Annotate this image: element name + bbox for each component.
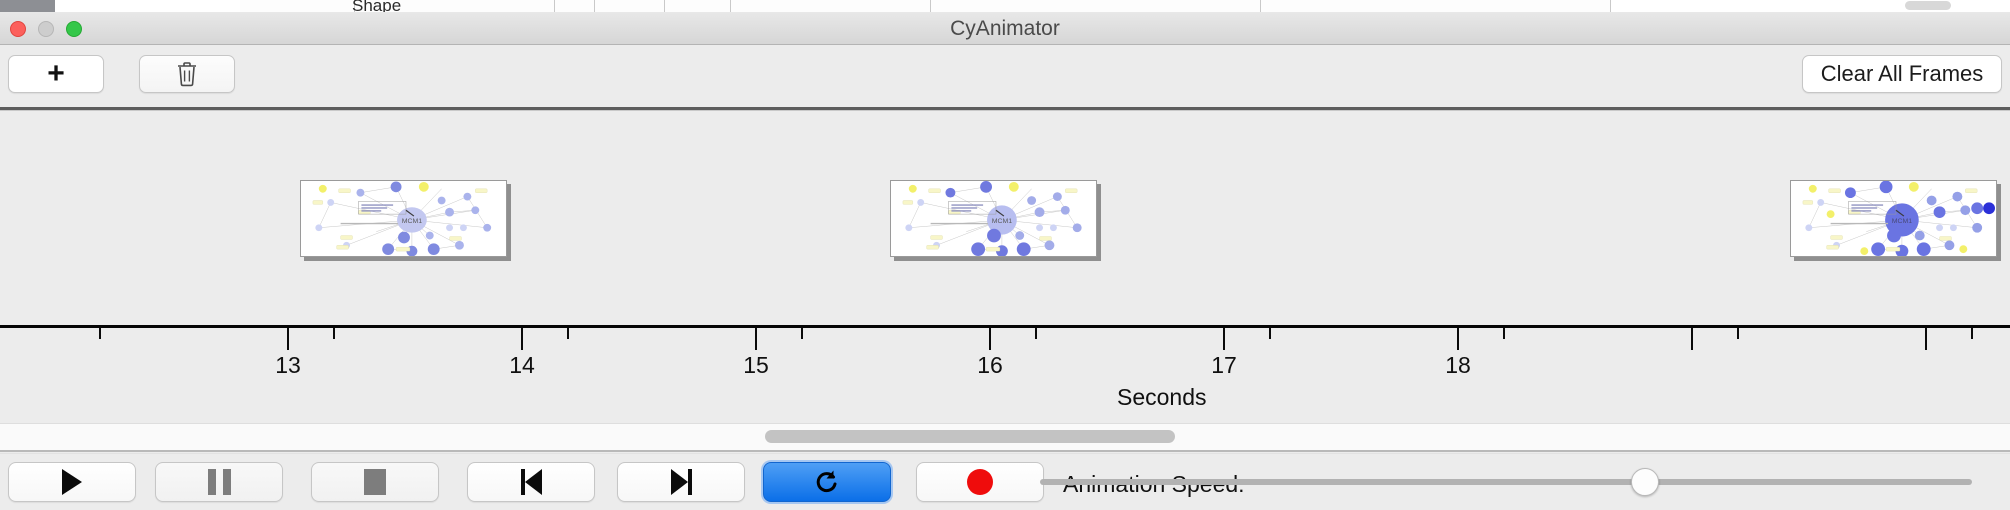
stop-icon xyxy=(364,469,386,495)
clear-all-frames-label: Clear All Frames xyxy=(1821,61,1984,87)
axis-tick-label: 14 xyxy=(492,352,552,379)
record-icon xyxy=(967,469,993,495)
axis-minor-tick xyxy=(801,328,803,339)
network-graphic: MCM1 xyxy=(301,181,506,256)
axis-major-tick xyxy=(755,328,757,350)
axis-major-tick xyxy=(287,328,289,350)
axis-minor-tick xyxy=(567,328,569,339)
network-graphic: MCM1 xyxy=(891,181,1096,256)
axis-minor-tick xyxy=(1503,328,1505,339)
background-scrollbar xyxy=(1905,1,1951,10)
scrollbar-bottom-border xyxy=(0,450,2010,452)
trash-icon xyxy=(176,61,198,87)
frame-thumbnail: MCM1 xyxy=(1790,180,1997,257)
axis-tick-label: 13 xyxy=(258,352,318,379)
axis-major-tick xyxy=(1223,328,1225,350)
svg-text:MCM1: MCM1 xyxy=(992,218,1013,225)
record-button[interactable] xyxy=(916,462,1044,502)
timeline-frame-3[interactable]: MCM1 xyxy=(1790,180,2001,261)
skip-back-icon xyxy=(521,469,542,495)
loop-button[interactable] xyxy=(763,462,891,502)
axis-minor-tick xyxy=(333,328,335,339)
timeline-frame-2[interactable]: MCM1 xyxy=(890,180,1101,261)
svg-text:MCM1: MCM1 xyxy=(402,218,423,225)
axis-minor-tick xyxy=(1737,328,1739,339)
plus-icon: + xyxy=(47,59,65,89)
axis-title: Seconds xyxy=(1117,384,1207,411)
scrollbar-thumb[interactable] xyxy=(765,430,1175,443)
skip-back-button[interactable] xyxy=(467,462,595,502)
delete-frame-button[interactable] xyxy=(139,55,235,93)
axis-minor-tick xyxy=(1269,328,1271,339)
axis-tick-label: 12 xyxy=(0,352,13,379)
timeline-frame-1[interactable]: MCM1 xyxy=(300,180,511,261)
skip-forward-button[interactable] xyxy=(617,462,745,502)
pause-icon xyxy=(208,469,231,495)
axis-tick-label: 17 xyxy=(1194,352,1254,379)
play-button[interactable] xyxy=(8,462,136,502)
axis-major-tick xyxy=(1925,328,1927,350)
window-title: CyAnimator xyxy=(0,12,2010,45)
axis-minor-tick xyxy=(99,328,101,339)
stop-button[interactable] xyxy=(311,462,439,502)
background-dark-block xyxy=(0,0,55,12)
axis-major-tick xyxy=(989,328,991,350)
pause-button[interactable] xyxy=(155,462,283,502)
clear-all-frames-button[interactable]: Clear All Frames xyxy=(1802,55,2002,93)
axis-minor-tick xyxy=(1035,328,1037,339)
playback-toolbar: Animation Speed: xyxy=(0,453,2010,510)
slider-thumb[interactable] xyxy=(1631,468,1659,496)
loop-icon xyxy=(813,468,841,496)
axis-tick-label: 18 xyxy=(1428,352,1488,379)
axis-tick-label: 15 xyxy=(726,352,786,379)
svg-text:MCM1: MCM1 xyxy=(1892,218,1913,225)
frame-thumbnail: MCM1 xyxy=(300,180,507,257)
axis-tick-label: 16 xyxy=(960,352,1020,379)
cyanimator-window: CyAnimator + Clear All Frames xyxy=(0,12,2010,510)
top-toolbar: + Clear All Frames xyxy=(0,45,2010,107)
timeline-axis-line xyxy=(0,325,2010,328)
axis-major-tick xyxy=(521,328,523,350)
slider-track[interactable] xyxy=(1040,479,1972,485)
axis-major-tick xyxy=(1457,328,1459,350)
play-icon xyxy=(62,469,82,495)
animation-speed-slider[interactable] xyxy=(1040,473,1972,491)
axis-major-tick xyxy=(1691,328,1693,350)
network-graphic: MCM1 xyxy=(1791,181,1996,256)
timeline-horizontal-scrollbar[interactable] xyxy=(0,423,2010,451)
axis-minor-tick xyxy=(1971,328,1973,339)
skip-forward-icon xyxy=(671,469,692,495)
add-frame-button[interactable]: + xyxy=(8,55,104,93)
frame-thumbnail: MCM1 xyxy=(890,180,1097,257)
window-titlebar: CyAnimator xyxy=(0,12,2010,45)
timeline-canvas[interactable]: MCM1 xyxy=(0,111,2010,423)
